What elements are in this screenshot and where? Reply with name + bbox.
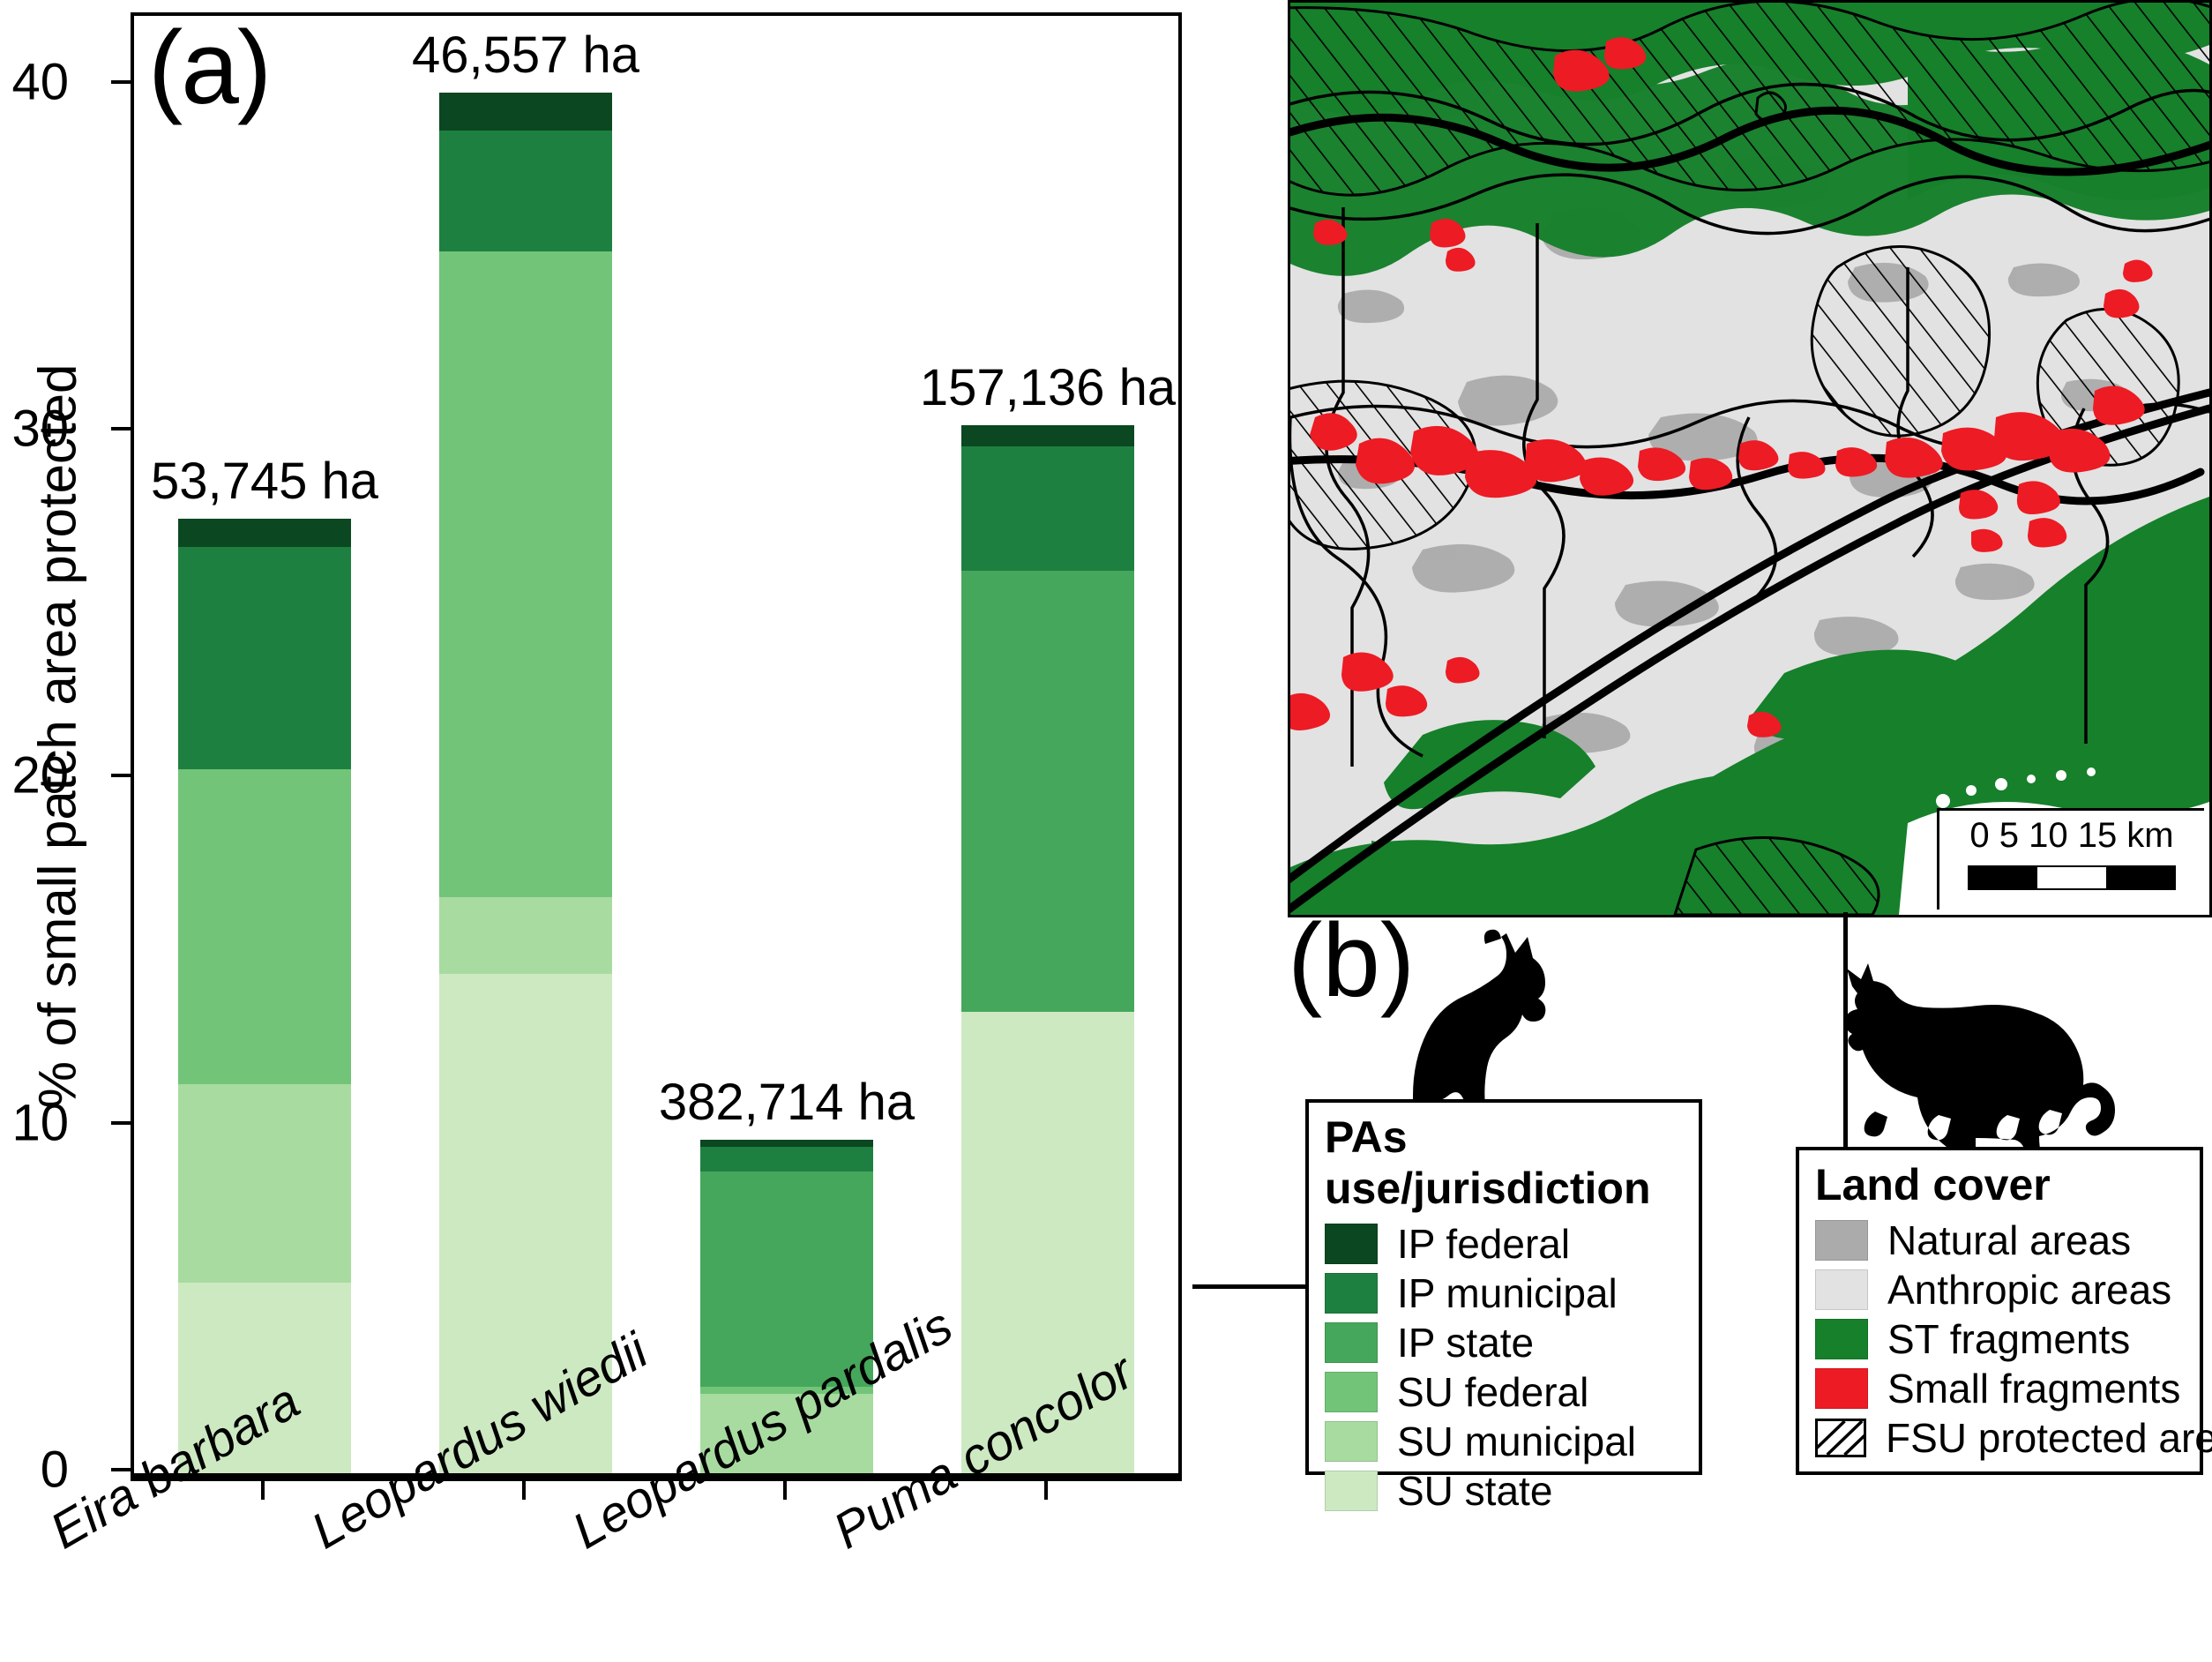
legend-land-item[interactable]: ST fragments xyxy=(1815,1314,2200,1364)
legend-pas-swatch-icon xyxy=(1325,1372,1378,1412)
x-axis-tick-mark xyxy=(1044,1477,1048,1500)
scale-bar-text: 0 5 10 15 km xyxy=(1939,816,2204,856)
connector-map-to-land-legend-vertical xyxy=(1843,912,1848,1150)
plot-area: 53,745 ha46,557 ha382,714 ha157,136 ha xyxy=(134,16,1178,1473)
y-axis-tick-label: 30 xyxy=(0,400,69,459)
puma-silhouette-icon xyxy=(1826,917,2117,1147)
legend-pas-label: SU federal xyxy=(1397,1368,1588,1416)
y-axis-tick-label: 40 xyxy=(0,52,69,111)
legend-pas-label: IP municipal xyxy=(1397,1269,1618,1317)
legend-pas-use-jurisdiction: PAs use/jurisdiction IP federalIP munici… xyxy=(1305,1099,1702,1475)
legend-land-cover: Land cover Natural areasAnthropic areasS… xyxy=(1796,1147,2203,1475)
legend-pas-item[interactable]: IP state xyxy=(1325,1318,1699,1367)
legend-pas-label: IP state xyxy=(1397,1319,1534,1366)
legend-land-item[interactable]: Natural areas xyxy=(1815,1216,2200,1265)
connector-chart-to-pas-legend xyxy=(1192,1284,1309,1289)
bar-segment-su-federal[interactable] xyxy=(178,769,350,1085)
legend-pas-label: SU state xyxy=(1397,1467,1552,1515)
legend-land-item[interactable]: Anthropic areas xyxy=(1815,1265,2200,1314)
bar-leopardus-wiedii[interactable] xyxy=(439,93,611,1473)
y-axis-tick-mark xyxy=(111,1121,131,1125)
legend-land-label: FSU protected areas xyxy=(1886,1414,2212,1462)
y-axis-tick-mark xyxy=(111,80,131,84)
legend-pas-label: SU municipal xyxy=(1397,1418,1636,1465)
legend-land-rows: Natural areasAnthropic areasST fragments… xyxy=(1799,1216,2200,1463)
bar-value-label: 53,745 ha xyxy=(79,452,450,511)
legend-pas-item[interactable]: IP federal xyxy=(1325,1219,1699,1269)
legend-land-swatch-icon xyxy=(1815,1319,1868,1359)
bar-segment-ip-federal[interactable] xyxy=(439,93,611,131)
bar-segment-su-municipal[interactable] xyxy=(178,1084,350,1282)
legend-pas-swatch-icon xyxy=(1325,1421,1378,1462)
legend-land-swatch-icon xyxy=(1815,1368,1868,1409)
bar-segment-ip-federal[interactable] xyxy=(178,519,350,546)
bar-value-label: 382,714 ha xyxy=(602,1073,972,1132)
bar-puma-concolor[interactable] xyxy=(961,425,1133,1473)
legend-land-swatch-icon xyxy=(1815,1220,1868,1261)
scale-bar-graphic xyxy=(1968,865,2176,890)
x-axis-tick-mark xyxy=(783,1477,787,1500)
bar-segment-ip-municipal[interactable] xyxy=(700,1147,872,1172)
legend-pas-item[interactable]: SU federal xyxy=(1325,1367,1699,1417)
panel-b-map: 0 5 10 15 km xyxy=(1288,0,2212,917)
bar-segment-su-municipal[interactable] xyxy=(439,897,611,974)
legend-pas-swatch-icon xyxy=(1325,1471,1378,1511)
y-axis-tick-mark xyxy=(111,427,131,430)
bar-segment-ip-municipal[interactable] xyxy=(178,547,350,769)
legend-pas-item[interactable]: SU state xyxy=(1325,1466,1699,1516)
legend-land-label: ST fragments xyxy=(1887,1315,2130,1363)
x-axis-tick-mark xyxy=(261,1477,265,1500)
y-axis-tick-label: 10 xyxy=(0,1093,69,1152)
legend-land-item[interactable]: Small fragments xyxy=(1815,1364,2200,1413)
x-axis-tick-mark xyxy=(522,1477,526,1500)
bar-value-label: 46,557 ha xyxy=(340,26,711,85)
legend-pas-item[interactable]: SU municipal xyxy=(1325,1417,1699,1466)
bar-value-label: 157,136 ha xyxy=(863,358,1233,417)
legend-land-label: Anthropic areas xyxy=(1887,1266,2171,1314)
legend-pas-label: IP federal xyxy=(1397,1220,1570,1268)
panel-a-label: (a) xyxy=(148,16,270,120)
legend-pas-item[interactable]: IP municipal xyxy=(1325,1269,1699,1318)
legend-pas-swatch-icon xyxy=(1325,1322,1378,1363)
y-axis-tick-label: 20 xyxy=(0,746,69,805)
bar-segment-ip-state[interactable] xyxy=(961,571,1133,1012)
legend-pas-swatch-icon xyxy=(1325,1224,1378,1264)
scale-bar: 0 5 10 15 km xyxy=(1937,808,2204,910)
legend-land-swatch-icon xyxy=(1815,1419,1866,1457)
bar-segment-ip-federal[interactable] xyxy=(700,1140,872,1147)
legend-land-title: Land cover xyxy=(1815,1159,2200,1210)
y-axis-tick-label: 0 xyxy=(0,1441,69,1500)
bar-segment-su-federal[interactable] xyxy=(439,251,611,897)
legend-pas-rows: IP federalIP municipalIP stateSU federal… xyxy=(1309,1219,1699,1516)
panel-a-bar-chart: % of small patch area protected 01020304… xyxy=(0,0,1270,1662)
bar-segment-ip-federal[interactable] xyxy=(961,425,1133,446)
legend-land-label: Small fragments xyxy=(1887,1365,2180,1412)
y-axis-tick-mark xyxy=(111,774,131,777)
bar-eira-barbara[interactable] xyxy=(178,519,350,1473)
legend-land-item[interactable]: FSU protected areas xyxy=(1815,1413,2200,1463)
land-cover-map xyxy=(1290,3,2209,915)
legend-land-label: Natural areas xyxy=(1887,1217,2131,1264)
bar-segment-ip-municipal[interactable] xyxy=(439,131,611,252)
legend-land-swatch-icon xyxy=(1815,1269,1868,1310)
legend-pas-swatch-icon xyxy=(1325,1273,1378,1314)
small-cat-silhouette-icon xyxy=(1390,917,1575,1107)
chart-plot-frame: 53,745 ha46,557 ha382,714 ha157,136 ha xyxy=(131,12,1182,1477)
bar-segment-ip-municipal[interactable] xyxy=(961,446,1133,572)
legend-pas-title: PAs use/jurisdiction xyxy=(1325,1112,1699,1214)
